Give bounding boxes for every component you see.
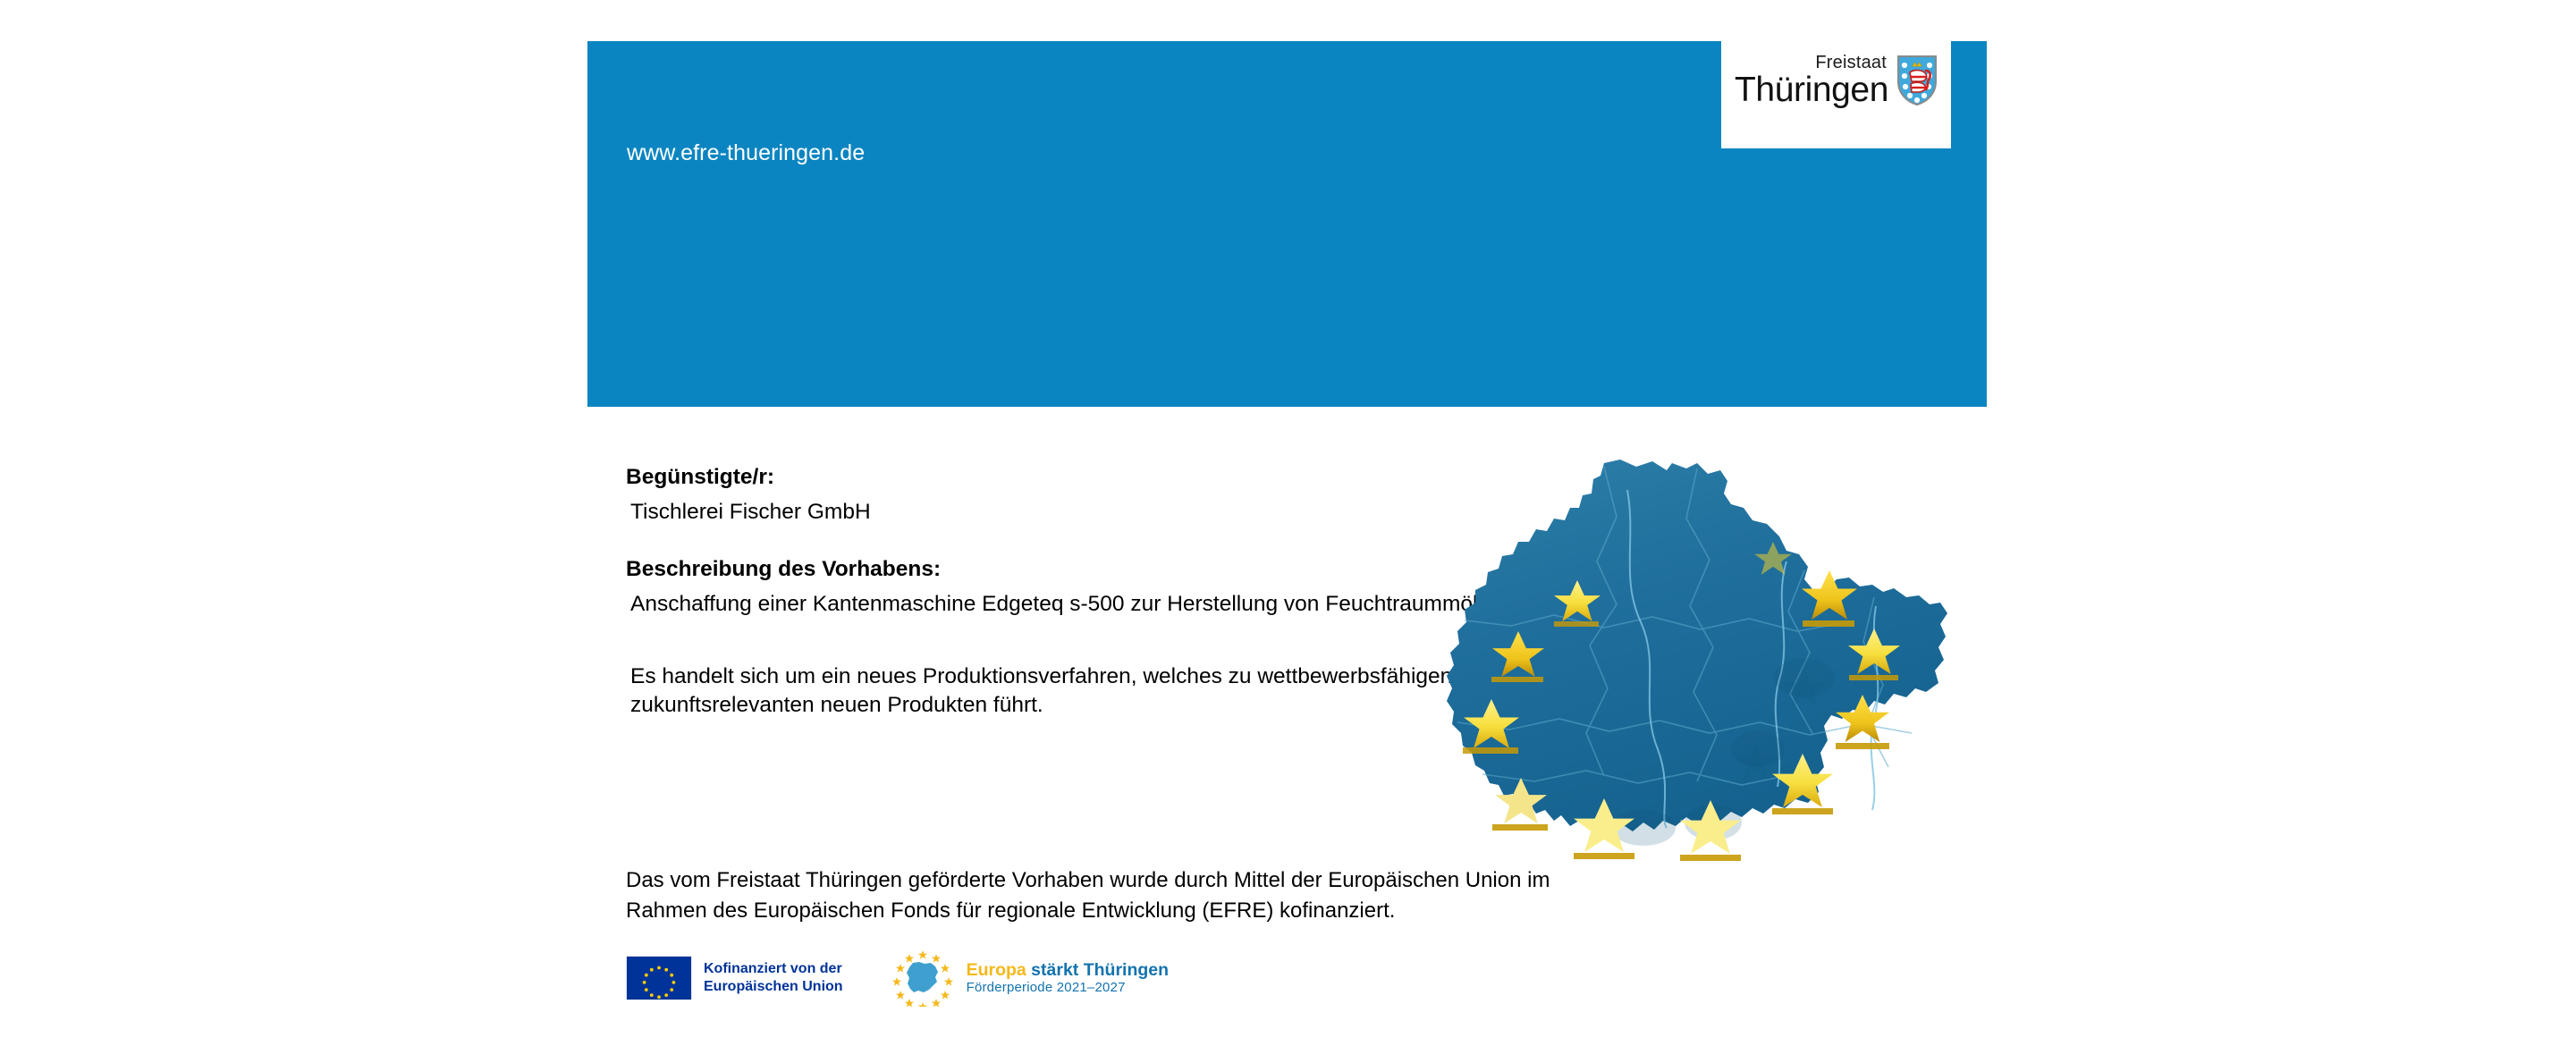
eu-flag-icon xyxy=(626,956,692,1000)
thueringen-map-with-eu-stars-icon xyxy=(890,949,956,1007)
state-logo-plate: Freistaat Thüringen xyxy=(1721,0,1951,148)
state-logo-line-main: Thüringen xyxy=(1735,72,1888,107)
website-url[interactable]: www.efre-thueringen.de xyxy=(627,140,865,166)
funding-logo-row: Kofinanziert von der Europäischen Union xyxy=(626,949,1169,1007)
state-logo-line-top: Freistaat xyxy=(1815,54,1887,72)
est-headline-highlight: Europa xyxy=(967,960,1026,980)
eu-logo-text: Kofinanziert von der Europäischen Union xyxy=(704,960,843,995)
state-logo-wordmark: Freistaat Thüringen xyxy=(1735,54,1888,107)
eu-cofinanced-logo: Kofinanziert von der Europäischen Union xyxy=(626,956,843,1000)
europa-staerkt-thueringen-logo: Europa stärkt Thüringen Förderperiode 20… xyxy=(890,949,1169,1007)
eu-logo-line-1: Kofinanziert von der xyxy=(704,960,843,978)
freistaat-thueringen-logo: Freistaat Thüringen xyxy=(1735,41,1938,107)
eu-logo-line-2: Europäischen Union xyxy=(704,978,843,996)
est-headline: Europa stärkt Thüringen xyxy=(967,961,1169,981)
europa-staerkt-thueringen-text: Europa stärkt Thüringen Förderperiode 20… xyxy=(967,961,1169,996)
thueringen-coat-of-arms-icon xyxy=(1896,55,1938,106)
est-headline-rest: stärkt Thüringen xyxy=(1026,960,1169,980)
poster-page: www.efre-thueringen.de Freistaat Thüring… xyxy=(0,0,2576,1046)
thueringen-map-eu-stars-graphic xyxy=(1429,454,1981,876)
est-subline: Förderperiode 2021–2027 xyxy=(967,981,1169,996)
